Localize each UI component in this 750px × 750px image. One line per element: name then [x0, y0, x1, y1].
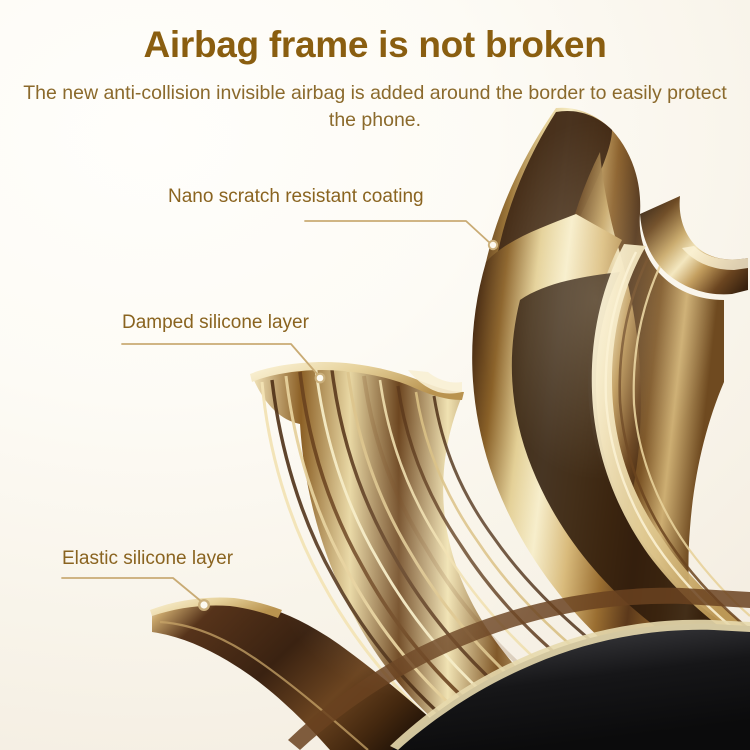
- callout-leader-lines: [0, 0, 750, 750]
- leader-nano: [305, 221, 498, 250]
- leader-damped: [122, 344, 325, 383]
- product-infographic: Airbag frame is not broken The new anti-…: [0, 0, 750, 750]
- leader-elastic: [62, 578, 210, 611]
